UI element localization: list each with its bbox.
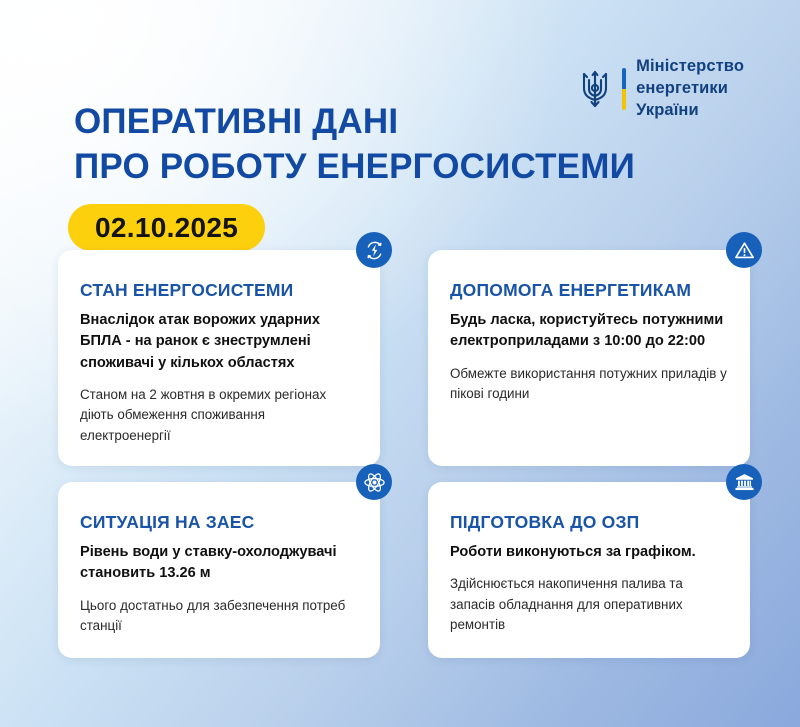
card-title: СИТУАЦІЯ НА ЗАЕС <box>80 512 358 533</box>
card-lead-text: Внаслідок атак ворожих ударних БПЛА - на… <box>80 310 358 374</box>
card-heating-season-preparation: ПІДГОТОВКА ДО ОЗП Роботи виконуються за … <box>428 482 750 658</box>
card-note-text: Цього достатньо для забезпечення потреб … <box>80 596 358 637</box>
card-title: СТАН ЕНЕРГОСИСТЕМИ <box>80 280 358 301</box>
card-title: ПІДГОТОВКА ДО ОЗП <box>450 512 728 533</box>
card-lead-text: Рівень води у ставку-охолоджувачі станов… <box>80 542 358 585</box>
warning-triangle-icon <box>726 232 762 268</box>
card-help-energy-workers: ДОПОМОГА ЕНЕРГЕТИКАМ Будь ласка, користу… <box>428 250 750 466</box>
card-title: ДОПОМОГА ЕНЕРГЕТИКАМ <box>450 280 728 301</box>
page-title: ОПЕРАТИВНІ ДАНІ ПРО РОБОТУ ЕНЕРГОСИСТЕМИ <box>74 100 635 190</box>
atom-icon <box>356 464 392 500</box>
page-title-line-2: ПРО РОБОТУ ЕНЕРГОСИСТЕМИ <box>74 145 635 190</box>
cards-grid: СТАН ЕНЕРГОСИСТЕМИ Внаслідок атак ворожи… <box>58 250 750 658</box>
logo-line-2: енергетики <box>636 78 744 100</box>
card-lead-text: Роботи виконуються за графіком. <box>450 542 728 563</box>
card-lead-text: Будь ласка, користуйтесь потужними елект… <box>450 310 728 353</box>
ministry-logo-text: Міністерство енергетики України <box>636 56 744 121</box>
logo-line-3: України <box>636 100 744 122</box>
card-note-text: Станом на 2 жовтня в окремих регіонах ді… <box>80 385 358 446</box>
government-building-icon <box>726 464 762 500</box>
page-title-line-1: ОПЕРАТИВНІ ДАНІ <box>74 102 398 141</box>
logo-line-1: Міністерство <box>636 56 744 78</box>
energy-recycle-icon <box>356 232 392 268</box>
card-note-text: Здійснюється накопичення палива та запас… <box>450 574 728 635</box>
date-badge: 02.10.2025 <box>68 204 265 251</box>
infographic-poster: Міністерство енергетики України ОПЕРАТИВ… <box>0 0 800 727</box>
card-zaes-situation: СИТУАЦІЯ НА ЗАЕС Рівень води у ставку-ох… <box>58 482 380 658</box>
card-note-text: Обмежте використання потужних приладів у… <box>450 364 728 405</box>
card-energy-system-status: СТАН ЕНЕРГОСИСТЕМИ Внаслідок атак ворожи… <box>58 250 380 466</box>
